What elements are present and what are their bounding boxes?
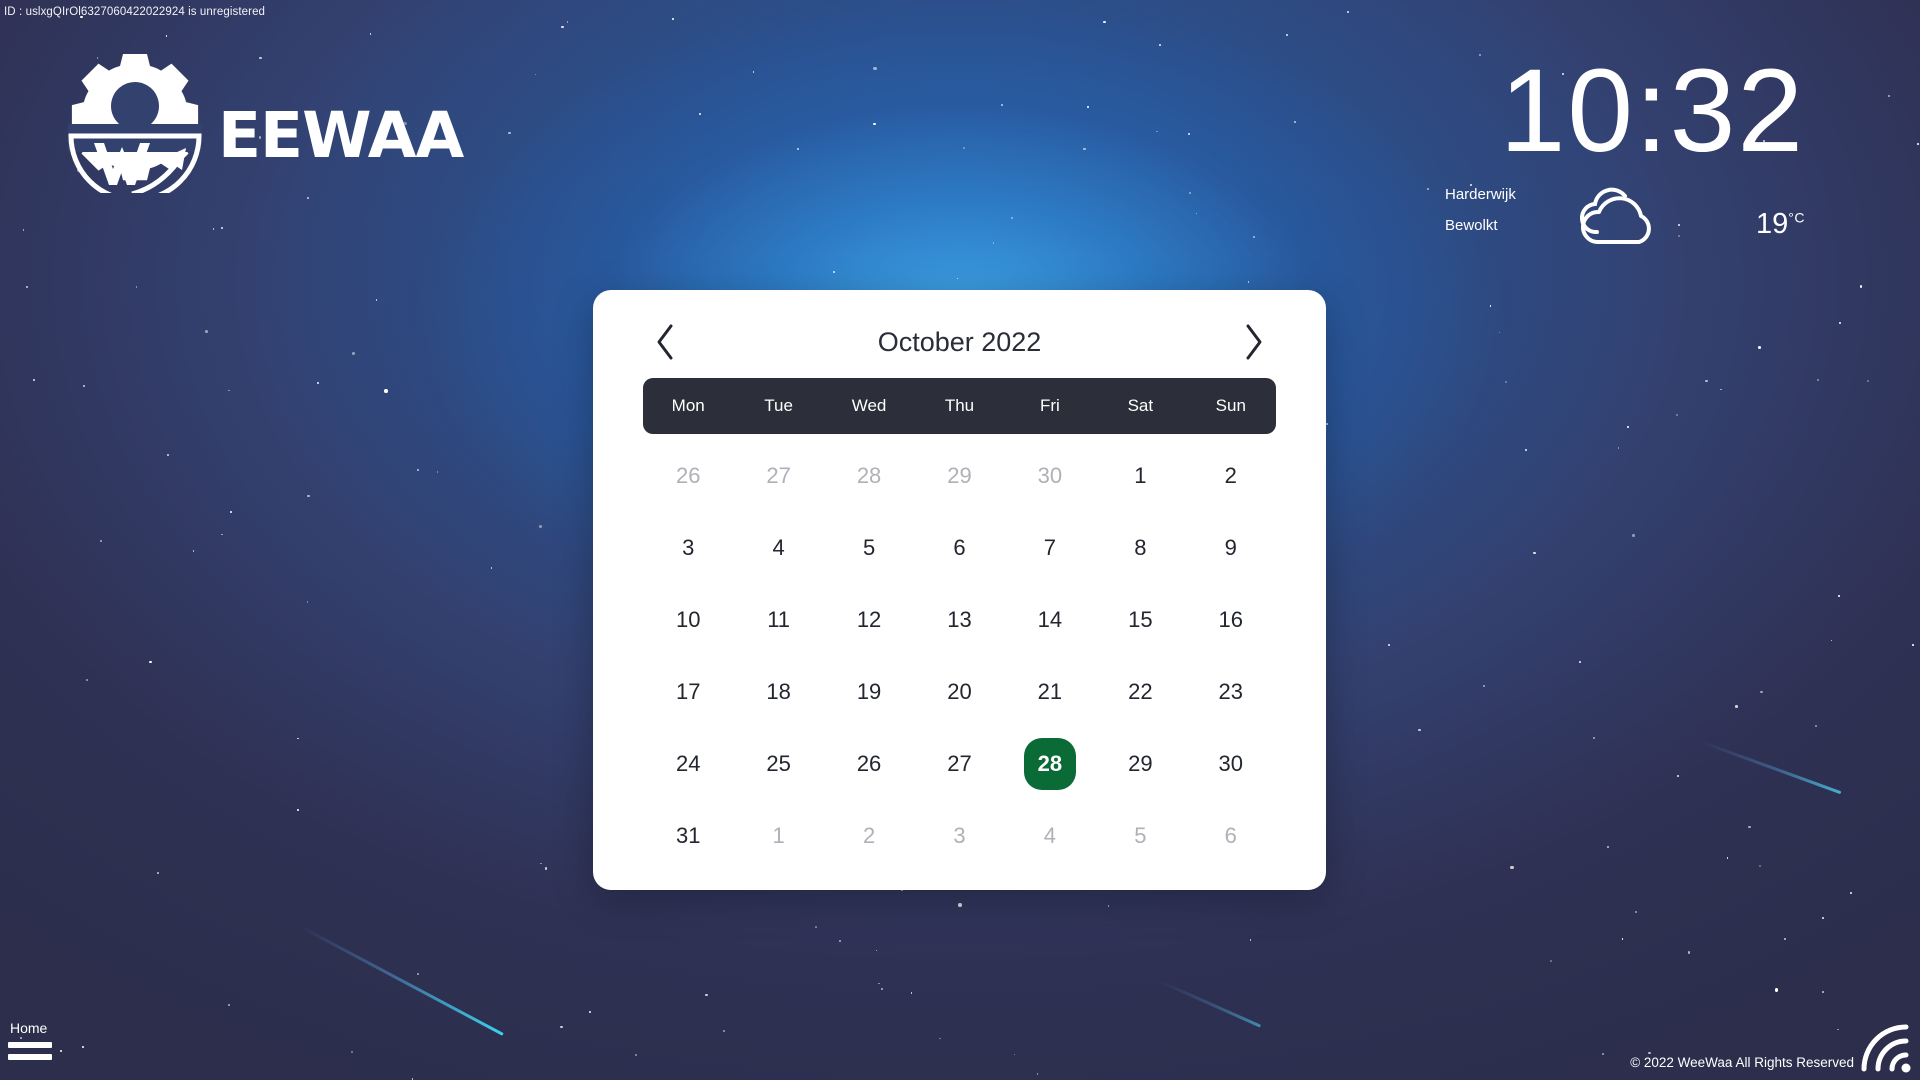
calendar-day[interactable]: 22 [1095, 656, 1185, 728]
calendar-day[interactable]: 12 [824, 584, 914, 656]
cloudy-icon [1555, 178, 1675, 257]
gear-bowl-arrow-logo-icon [60, 48, 210, 193]
calendar-day[interactable]: 29 [914, 440, 1004, 512]
calendar-day[interactable]: 28 [824, 440, 914, 512]
home-menu-button[interactable]: Home [8, 1020, 52, 1066]
calendar-day[interactable]: 7 [1005, 512, 1095, 584]
calendar-day[interactable]: 1 [1095, 440, 1185, 512]
weather-city: Harderwijk [1445, 186, 1516, 203]
clock-weather-panel: 10:32 Harderwijk Bewolkt 19°C [1425, 52, 1805, 264]
calendar-day-label: 13 [933, 594, 985, 646]
calendar-day[interactable]: 30 [1005, 440, 1095, 512]
calendar-day-label: 6 [933, 522, 985, 574]
brand-name: EEWAA [218, 104, 463, 167]
calendar-day[interactable]: 5 [1095, 800, 1185, 872]
calendar-day-label: 21 [1024, 666, 1076, 718]
calendar-weekday-sun: Sun [1186, 396, 1276, 416]
calendar-day-label: 1 [753, 810, 805, 862]
calendar-day[interactable]: 6 [1186, 800, 1276, 872]
calendar-day-label: 15 [1114, 594, 1166, 646]
calendar-day[interactable]: 27 [733, 440, 823, 512]
calendar-day-label: 6 [1205, 810, 1257, 862]
calendar-weekday-mon: Mon [643, 396, 733, 416]
unregistered-watermark: ID : uslxgQIrOl6327060422022924 is unreg… [4, 6, 265, 18]
calendar-day-label: 30 [1205, 738, 1257, 790]
calendar-day-label: 10 [662, 594, 714, 646]
calendar-day-label: 11 [753, 594, 805, 646]
home-label: Home [8, 1020, 52, 1036]
calendar-day-label: 18 [753, 666, 805, 718]
calendar-day-label: 26 [843, 738, 895, 790]
calendar-day[interactable]: 4 [733, 512, 823, 584]
meteor-streak [1699, 740, 1841, 794]
calendar-day-grid: 2627282930123456789101112131415161718192… [643, 440, 1276, 872]
calendar-day[interactable]: 26 [643, 440, 733, 512]
calendar-weekday-tue: Tue [733, 396, 823, 416]
copyright-text: © 2022 WeeWaa All Rights Reserved [1630, 1055, 1854, 1070]
calendar-day-label: 19 [843, 666, 895, 718]
calendar-day-label: 29 [1114, 738, 1166, 790]
hamburger-menu-icon[interactable] [8, 1042, 52, 1060]
calendar-day[interactable]: 2 [1186, 440, 1276, 512]
calendar-day[interactable]: 2 [824, 800, 914, 872]
calendar-day[interactable]: 29 [1095, 728, 1185, 800]
calendar-day[interactable]: 30 [1186, 728, 1276, 800]
calendar-day-label: 5 [1114, 810, 1166, 862]
calendar-day[interactable]: 18 [733, 656, 823, 728]
calendar-day-label: 27 [933, 738, 985, 790]
calendar-day[interactable]: 23 [1186, 656, 1276, 728]
calendar-day-label: 4 [1024, 810, 1076, 862]
calendar-day-label: 3 [662, 522, 714, 574]
meteor-streak [1159, 980, 1261, 1027]
calendar-day[interactable]: 3 [643, 512, 733, 584]
calendar-day[interactable]: 8 [1095, 512, 1185, 584]
calendar-day-label: 23 [1205, 666, 1257, 718]
calendar-day[interactable]: 31 [643, 800, 733, 872]
calendar-day-label: 8 [1114, 522, 1166, 574]
calendar-day[interactable]: 3 [914, 800, 1004, 872]
calendar-day-label: 16 [1205, 594, 1257, 646]
calendar-day[interactable]: 21 [1005, 656, 1095, 728]
calendar-weekday-fri: Fri [1005, 396, 1095, 416]
temperature-unit: °C [1788, 209, 1805, 225]
calendar-day-label: 7 [1024, 522, 1076, 574]
weather-description: Bewolkt [1445, 217, 1498, 234]
calendar-day[interactable]: 6 [914, 512, 1004, 584]
calendar-day-label: 20 [933, 666, 985, 718]
calendar-weekday-sat: Sat [1095, 396, 1185, 416]
calendar-day[interactable]: 15 [1095, 584, 1185, 656]
calendar-weekday-wed: Wed [824, 396, 914, 416]
calendar-day[interactable]: 17 [643, 656, 733, 728]
calendar-day[interactable]: 19 [824, 656, 914, 728]
calendar-day[interactable]: 25 [733, 728, 823, 800]
calendar-day-label: 31 [662, 810, 714, 862]
calendar-day[interactable]: 5 [824, 512, 914, 584]
weather-temperature: 19°C [1756, 208, 1805, 241]
calendar-day-label: 29 [933, 450, 985, 502]
calendar-day-label: 1 [1114, 450, 1166, 502]
chevron-left-icon[interactable] [643, 320, 687, 364]
calendar-day-selected[interactable]: 28 [1005, 728, 1095, 800]
calendar-day-label: 4 [753, 522, 805, 574]
calendar-day-label: 3 [933, 810, 985, 862]
calendar-day-label: 28 [843, 450, 895, 502]
meteor-streak [299, 925, 503, 1036]
calendar-day[interactable]: 14 [1005, 584, 1095, 656]
calendar-header: October 2022 [643, 306, 1276, 378]
weather-widget: Harderwijk Bewolkt 19°C [1425, 178, 1805, 264]
calendar-day-label: 17 [662, 666, 714, 718]
calendar-day-label: 27 [753, 450, 805, 502]
calendar-day-label: 28 [1024, 738, 1076, 790]
calendar-day[interactable]: 24 [643, 728, 733, 800]
calendar-day-label: 9 [1205, 522, 1257, 574]
calendar-day[interactable]: 11 [733, 584, 823, 656]
calendar-day[interactable]: 4 [1005, 800, 1095, 872]
calendar-day[interactable]: 10 [643, 584, 733, 656]
calendar-day-label: 25 [753, 738, 805, 790]
clock-time: 10:32 [1425, 52, 1805, 170]
calendar-day-label: 5 [843, 522, 895, 574]
calendar-day-label: 2 [843, 810, 895, 862]
brand-logo: EEWAA [60, 48, 463, 193]
calendar-day-label: 30 [1024, 450, 1076, 502]
calendar-day-label: 12 [843, 594, 895, 646]
calendar-day[interactable]: 26 [824, 728, 914, 800]
calendar-title: October 2022 [878, 327, 1042, 358]
calendar-day[interactable]: 9 [1186, 512, 1276, 584]
calendar-day-label: 14 [1024, 594, 1076, 646]
calendar-day-label: 26 [662, 450, 714, 502]
calendar-day-label: 22 [1114, 666, 1166, 718]
chevron-right-icon[interactable] [1232, 320, 1276, 364]
calendar-day[interactable]: 27 [914, 728, 1004, 800]
calendar-day[interactable]: 16 [1186, 584, 1276, 656]
temperature-value: 19 [1756, 208, 1788, 240]
calendar-day[interactable]: 20 [914, 656, 1004, 728]
wifi-icon [1858, 1023, 1918, 1078]
calendar-weekday-thu: Thu [914, 396, 1004, 416]
calendar-day-label: 24 [662, 738, 714, 790]
calendar-weekday-header: MonTueWedThuFriSatSun [643, 378, 1276, 434]
calendar-day[interactable]: 13 [914, 584, 1004, 656]
calendar-widget: October 2022 MonTueWedThuFriSatSun 26272… [593, 290, 1326, 890]
calendar-day-label: 2 [1205, 450, 1257, 502]
calendar-day[interactable]: 1 [733, 800, 823, 872]
